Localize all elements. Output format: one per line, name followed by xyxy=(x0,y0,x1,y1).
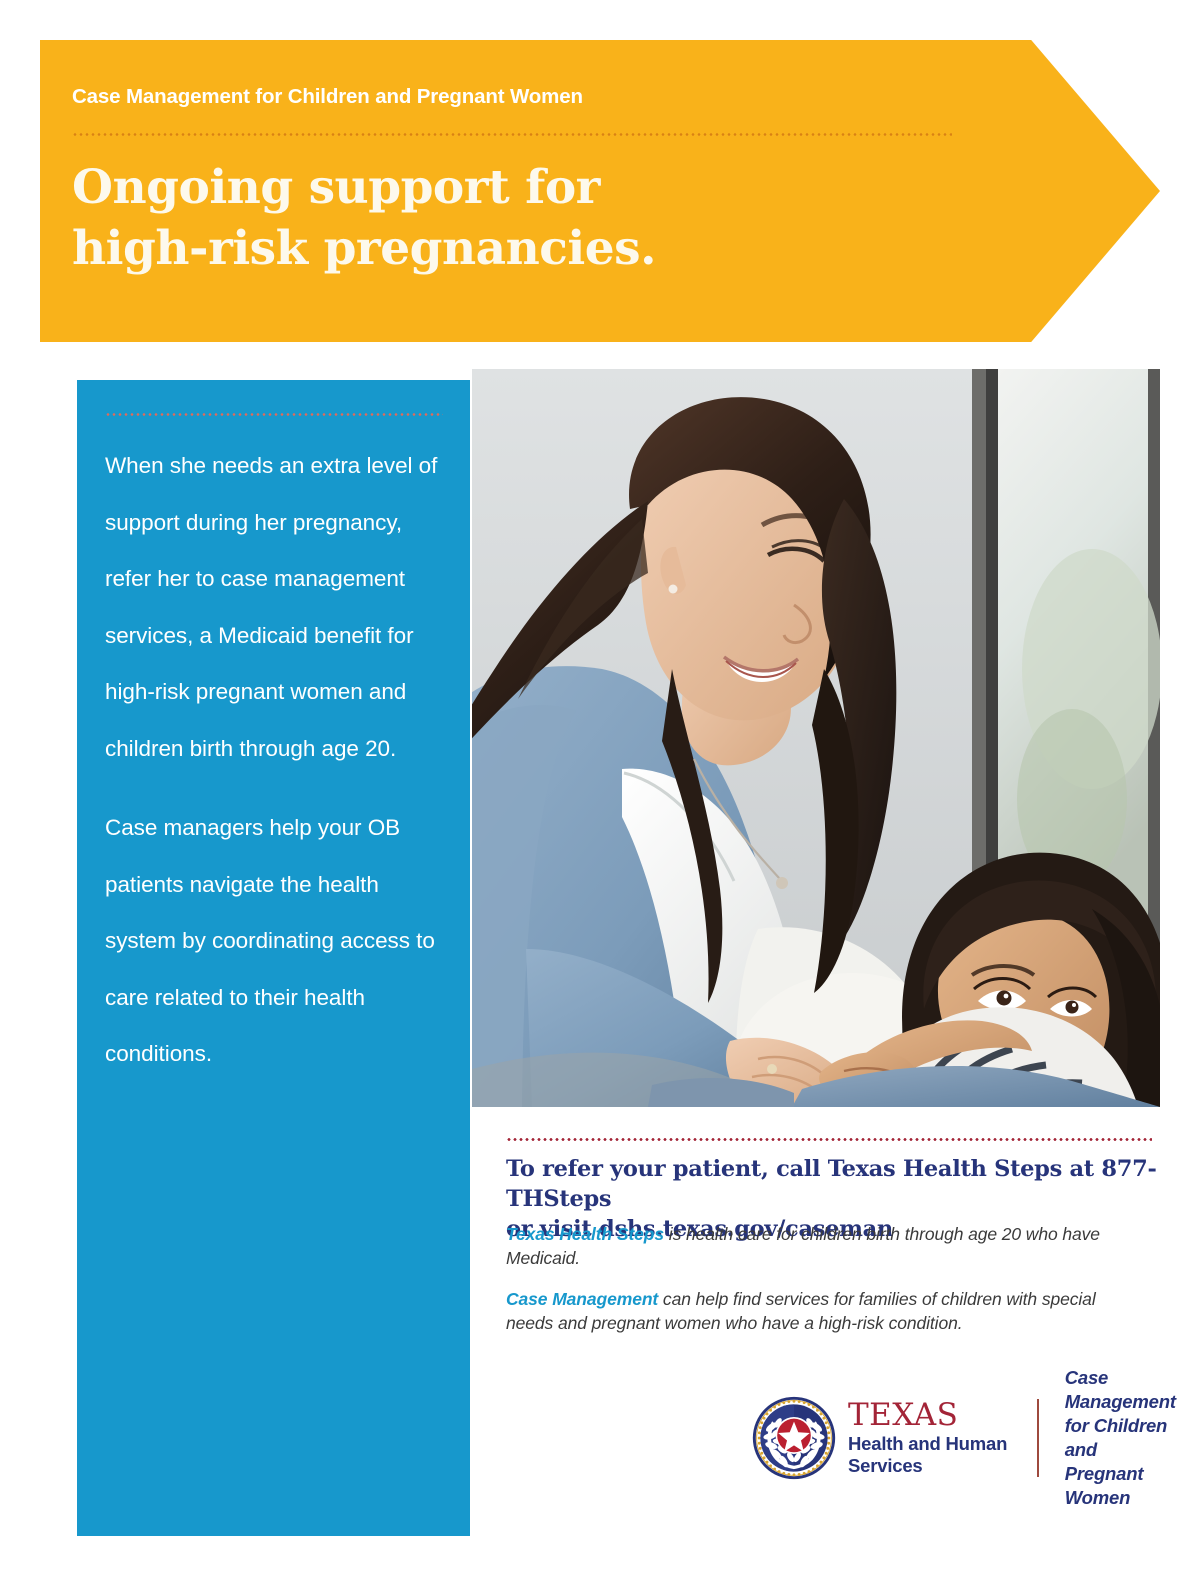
wordmark-texas: TEXAS xyxy=(848,1399,1007,1431)
hero-photo xyxy=(472,369,1160,1107)
page-title: Ongoing support for high-risk pregnancie… xyxy=(72,157,656,279)
definition-term: Texas Health Steps xyxy=(506,1224,664,1244)
sidebar-body-text: When she needs an extra level of support… xyxy=(105,438,450,1083)
definition-texas-health-steps: Texas Health Steps is health care for ch… xyxy=(506,1222,1146,1270)
program-name-line-2: for Children and xyxy=(1065,1414,1176,1462)
header-eyebrow-text: Case Management for Children and Pregnan… xyxy=(72,85,583,109)
wordmark-agency-line-1: Health and Human xyxy=(848,1433,1007,1455)
wordmark-agency: Health and Human Services xyxy=(848,1433,1007,1477)
hhs-wordmark: TEXAS Health and Human Services xyxy=(848,1399,1007,1477)
program-name-line-3: Pregnant Women xyxy=(1065,1462,1176,1510)
wordmark-agency-line-2: Services xyxy=(848,1455,1007,1477)
page-title-line-2: high-risk pregnancies. xyxy=(72,218,656,279)
definition-term: Case Management xyxy=(506,1289,658,1309)
texas-state-seal-icon xyxy=(752,1396,836,1480)
program-name-line-1: Case Management xyxy=(1065,1366,1176,1414)
flyer-page: Case Management for Children and Pregnan… xyxy=(0,0,1200,1579)
sidebar-dotted-rule xyxy=(105,413,443,416)
header-dotted-rule xyxy=(72,133,952,136)
logo-lockup: TEXAS Health and Human Services Case Man… xyxy=(752,1388,1162,1488)
footer-dotted-rule xyxy=(506,1138,1152,1141)
program-name: Case Management for Children and Pregnan… xyxy=(1065,1366,1176,1510)
sidebar-paragraph-2: Case managers help your OB patients navi… xyxy=(105,800,450,1083)
definition-case-management: Case Management can help find services f… xyxy=(506,1287,1146,1335)
sidebar-blue-panel: When she needs an extra level of support… xyxy=(77,380,470,1536)
logo-divider xyxy=(1037,1399,1039,1477)
program-definitions: Texas Health Steps is health care for ch… xyxy=(506,1222,1146,1335)
page-title-line-1: Ongoing support for xyxy=(72,157,656,218)
sidebar-paragraph-1: When she needs an extra level of support… xyxy=(105,438,450,777)
referral-headline-line-1: To refer your patient, call Texas Health… xyxy=(506,1154,1166,1214)
